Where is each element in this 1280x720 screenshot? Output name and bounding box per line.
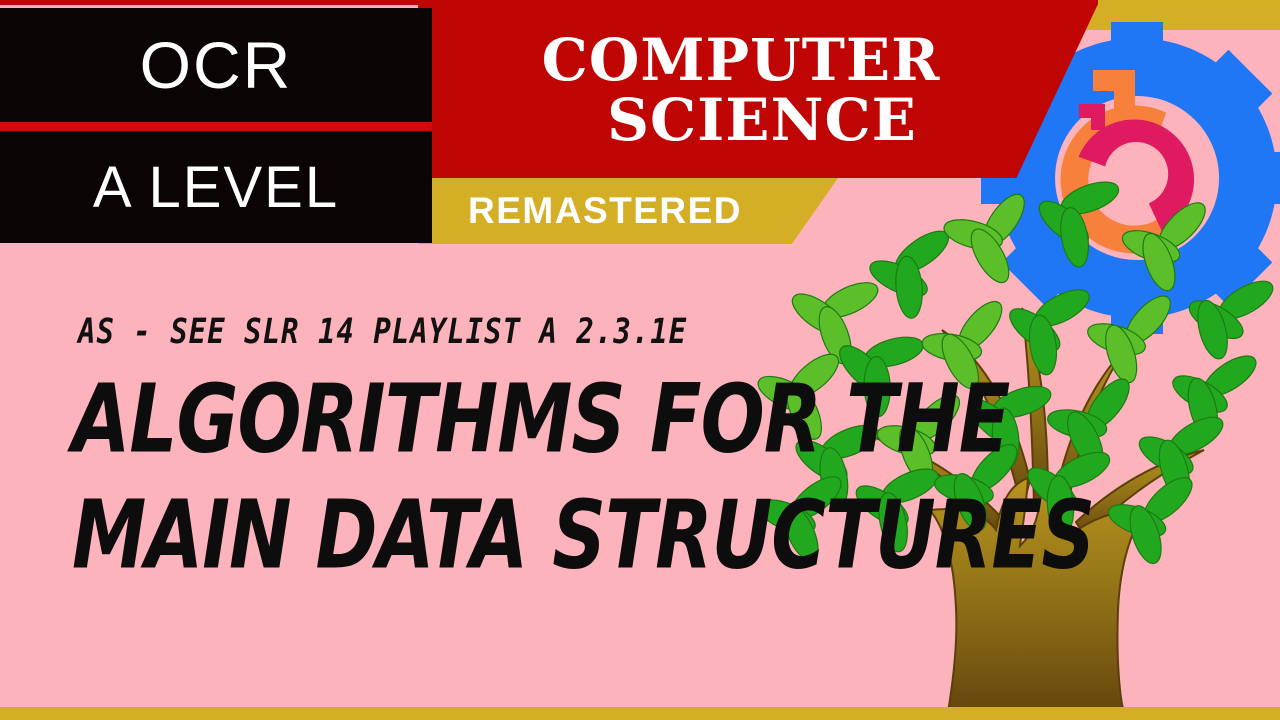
edition-band: REMASTERED — [418, 178, 838, 244]
edition-label: REMASTERED — [468, 190, 742, 232]
subject-line-2: SCIENCE — [607, 91, 917, 151]
qualification-badge: A LEVEL — [0, 131, 432, 243]
badge-divider-rule — [0, 122, 432, 131]
qualification-label: A LEVEL — [93, 154, 339, 221]
title-line-1: ALGORITHMS FOR THE — [72, 372, 1009, 467]
subject-line-1: COMPUTER — [542, 31, 941, 91]
title-line-2: MAIN DATA STRUCTURES — [72, 488, 1094, 583]
specification-reference: AS - SEE SLR 14 PLAYLIST A 2.3.1E — [78, 311, 687, 351]
subject-banner: COMPUTER SCIENCE — [418, 4, 1098, 178]
exam-board-label: OCR — [140, 27, 293, 103]
bottom-gold-strip — [0, 707, 1280, 720]
thumbnail-canvas: COMPUTER SCIENCE REMASTERED OCR A LEVEL … — [0, 0, 1280, 720]
exam-board-badge: OCR — [0, 8, 432, 122]
